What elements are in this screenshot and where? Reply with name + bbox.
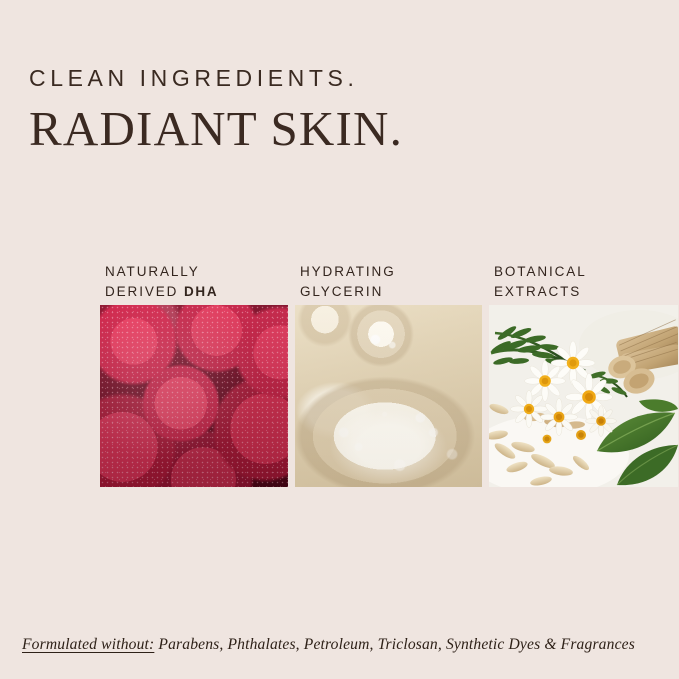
label-emphasis: DHA bbox=[184, 284, 218, 299]
label-line-1: BOTANICAL bbox=[494, 264, 587, 279]
ingredient-label-dha: NATURALLYDERIVED DHA bbox=[100, 262, 288, 305]
label-line-2: GLYCERIN bbox=[300, 284, 383, 299]
label-line-2: EXTRACTS bbox=[494, 284, 581, 299]
headline-eyebrow: CLEAN INGREDIENTS. bbox=[29, 66, 649, 91]
ingredient-label-glycerin: HYDRATINGGLYCERIN bbox=[295, 262, 482, 305]
beet-slices-photo bbox=[100, 305, 288, 487]
botanical-illustration bbox=[489, 305, 678, 487]
ingredient-columns: NATURALLYDERIVED DHA HYDRATINGGLYCERIN B… bbox=[100, 262, 679, 494]
page-title: RADIANT SKIN. bbox=[29, 102, 649, 157]
promo-graphic: CLEAN INGREDIENTS. RADIANT SKIN. NATURAL… bbox=[0, 0, 679, 679]
botanical-extracts-photo bbox=[489, 305, 678, 487]
ingredient-column-botanical: BOTANICALEXTRACTS bbox=[489, 262, 678, 494]
glycerin-gel-photo bbox=[295, 305, 482, 487]
ingredient-column-glycerin: HYDRATINGGLYCERIN bbox=[295, 262, 482, 494]
ingredient-label-botanical: BOTANICALEXTRACTS bbox=[489, 262, 678, 305]
ingredient-column-dha: NATURALLYDERIVED DHA bbox=[100, 262, 288, 494]
headline-block: CLEAN INGREDIENTS. RADIANT SKIN. bbox=[29, 66, 649, 157]
footer-list: Parabens, Phthalates, Petroleum, Triclos… bbox=[154, 636, 635, 653]
footer-disclaimer: Formulated without: Parabens, Phthalates… bbox=[22, 636, 667, 654]
label-line-2: DERIVED bbox=[105, 284, 184, 299]
label-line-1: NATURALLY bbox=[105, 264, 200, 279]
footer-lead: Formulated without: bbox=[22, 636, 154, 653]
label-line-1: HYDRATING bbox=[300, 264, 396, 279]
